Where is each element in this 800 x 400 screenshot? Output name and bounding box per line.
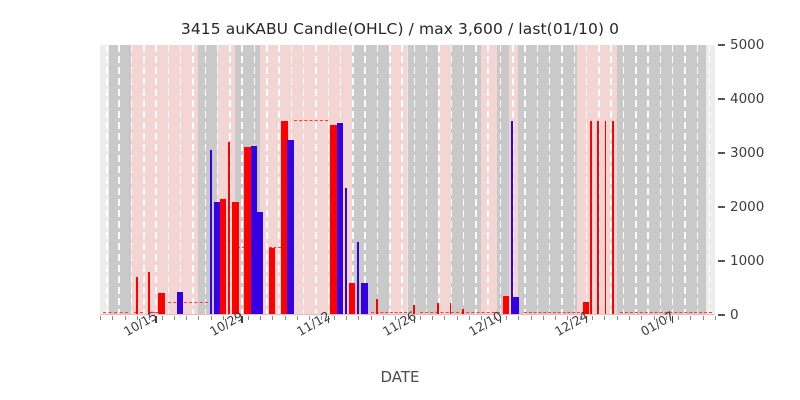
- x-axis-minor-tick: [641, 316, 642, 320]
- gridline: [635, 45, 637, 315]
- x-axis-minor-tick: [334, 316, 335, 320]
- x-axis-minor-tick: [358, 316, 359, 320]
- x-axis-minor-tick: [444, 316, 445, 320]
- background-band: [389, 45, 407, 315]
- bar: [512, 297, 519, 315]
- x-axis-minor-tick: [272, 316, 273, 320]
- x-axis-minor-tick: [543, 316, 544, 320]
- gridline: [352, 45, 354, 315]
- gridline: [537, 45, 539, 315]
- bar: [220, 199, 227, 315]
- y-tick-label: 2000: [730, 199, 764, 215]
- background-band: [497, 45, 509, 315]
- background-band: [617, 45, 706, 315]
- gridline: [414, 45, 416, 315]
- gridline: [451, 45, 453, 315]
- bar: [612, 121, 614, 315]
- bar: [361, 283, 368, 315]
- y-axis-tick: 0: [718, 307, 739, 323]
- gridline: [524, 45, 526, 315]
- gridline: [463, 45, 465, 315]
- bar: [177, 292, 184, 315]
- gridline: [377, 45, 379, 315]
- x-axis-minor-tick: [248, 316, 249, 320]
- background-band: [109, 45, 131, 315]
- background-band: [481, 45, 496, 315]
- gridline: [684, 45, 686, 315]
- y-tick-label: 3000: [730, 145, 764, 161]
- x-axis-minor-tick: [690, 316, 691, 320]
- gridline: [475, 45, 477, 315]
- x-axis-minor-tick: [383, 316, 384, 320]
- bar: [511, 121, 513, 315]
- y-axis-tick: 3000: [718, 145, 764, 161]
- gridline: [401, 45, 403, 315]
- bar: [158, 293, 165, 315]
- bar: [597, 121, 599, 315]
- x-axis-minor-tick: [260, 316, 261, 320]
- x-axis-minor-tick: [604, 316, 605, 320]
- x-axis-minor-tick: [198, 316, 199, 320]
- gridline: [118, 45, 120, 315]
- bar: [257, 212, 264, 315]
- y-tick-mark: [718, 152, 725, 153]
- gridline: [549, 45, 551, 315]
- gridline: [180, 45, 182, 315]
- bar: [605, 121, 607, 315]
- bar: [269, 248, 276, 316]
- y-axis-tick: 5000: [718, 37, 764, 53]
- gridline: [647, 45, 649, 315]
- gridline: [155, 45, 157, 315]
- x-axis-minor-tick: [285, 316, 286, 320]
- x-axis-minor-tick: [592, 316, 593, 320]
- background-band: [174, 45, 199, 315]
- bar: [503, 296, 510, 315]
- bar: [590, 121, 592, 315]
- background-band: [408, 45, 439, 315]
- y-axis-tick: 2000: [718, 199, 764, 215]
- background-band: [438, 45, 450, 315]
- gridline: [205, 45, 207, 315]
- x-axis-minor-tick: [432, 316, 433, 320]
- y-tick-mark: [718, 98, 725, 99]
- gridline: [131, 45, 133, 315]
- gridline: [623, 45, 625, 315]
- background-band: [100, 45, 109, 315]
- gridline: [487, 45, 489, 315]
- x-axis-minor-tick: [617, 316, 618, 320]
- gridline: [709, 45, 711, 315]
- gridline: [574, 45, 576, 315]
- x-axis-minor-tick: [100, 316, 101, 320]
- y-tick-label: 1000: [730, 253, 764, 269]
- chart-figure: 3415 auKABU Candle(OHLC) / max 3,600 / l…: [0, 0, 800, 400]
- gridline: [143, 45, 145, 315]
- y-axis-tick: 1000: [718, 253, 764, 269]
- gridline: [660, 45, 662, 315]
- gridline: [106, 45, 108, 315]
- y-tick-mark: [718, 260, 725, 261]
- gridline: [586, 45, 588, 315]
- x-axis-minor-tick: [186, 316, 187, 320]
- bar: [232, 202, 239, 315]
- gridline: [438, 45, 440, 315]
- x-axis-minor-tick: [371, 316, 372, 320]
- x-axis-minor-tick: [555, 316, 556, 320]
- bar: [287, 140, 294, 316]
- x-axis-minor-tick: [174, 316, 175, 320]
- background-band: [706, 45, 715, 315]
- y-tick-label: 5000: [730, 37, 764, 53]
- gridline: [315, 45, 317, 315]
- bar: [337, 123, 344, 315]
- gridline: [426, 45, 428, 315]
- x-axis-minor-tick: [112, 316, 113, 320]
- x-axis-minor-tick: [531, 316, 532, 320]
- x-axis-minor-tick: [506, 316, 507, 320]
- background-band: [451, 45, 482, 315]
- gridline: [192, 45, 194, 315]
- gridline: [303, 45, 305, 315]
- gridline: [168, 45, 170, 315]
- chart-title: 3415 auKABU Candle(OHLC) / max 3,600 / l…: [0, 20, 800, 38]
- y-tick-mark: [718, 206, 725, 207]
- gridline: [241, 45, 243, 315]
- bar: [228, 142, 230, 315]
- x-axis-minor-tick: [469, 316, 470, 320]
- x-axis-minor-tick: [457, 316, 458, 320]
- y-tick-mark: [718, 44, 725, 45]
- y-tick-mark: [718, 314, 725, 315]
- background-band: [518, 45, 576, 315]
- background-band: [309, 45, 327, 315]
- last-value-segment: [294, 120, 328, 121]
- y-tick-label: 4000: [730, 91, 764, 107]
- x-axis-minor-tick: [518, 316, 519, 320]
- gridline: [328, 45, 330, 315]
- x-axis-minor-tick: [211, 316, 212, 320]
- bar: [357, 242, 359, 315]
- gridline: [672, 45, 674, 315]
- x-axis-label: DATE: [0, 368, 800, 386]
- x-axis-minor-tick: [162, 316, 163, 320]
- gridline: [500, 45, 502, 315]
- gridline: [266, 45, 268, 315]
- x-axis-minor-tick: [346, 316, 347, 320]
- x-axis-minor-tick: [125, 316, 126, 320]
- y-tick-label: 0: [730, 307, 739, 323]
- gridline: [278, 45, 280, 315]
- x-axis-minor-tick: [629, 316, 630, 320]
- bar: [136, 277, 138, 315]
- last-value-segment: [168, 302, 208, 303]
- bar: [345, 188, 347, 315]
- bar: [349, 283, 356, 315]
- x-axis-minor-tick: [678, 316, 679, 320]
- gridline: [364, 45, 366, 315]
- plot-area: [100, 45, 715, 315]
- gridline: [561, 45, 563, 315]
- x-axis-minor-tick: [297, 316, 298, 320]
- x-axis-minor-tick: [703, 316, 704, 320]
- x-axis-minor-tick: [420, 316, 421, 320]
- y-axis-tick: 4000: [718, 91, 764, 107]
- gridline: [389, 45, 391, 315]
- gridline: [697, 45, 699, 315]
- x-axis-minor-tick: [715, 316, 716, 320]
- bar: [210, 150, 212, 315]
